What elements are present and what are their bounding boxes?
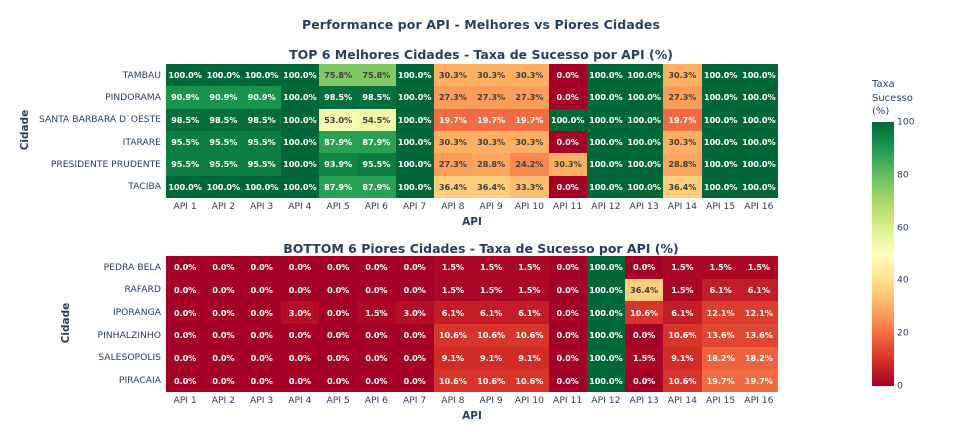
heatmap-cell[interactable]: 100.0% <box>702 131 740 153</box>
heatmap-cell[interactable]: 6.1% <box>434 301 472 324</box>
heatmap-cell[interactable]: 100.0% <box>587 279 625 302</box>
heatmap-y-label: TACIBA <box>0 176 166 198</box>
heatmap-cell[interactable]: 9.1% <box>663 347 701 370</box>
heatmap-cell[interactable]: 100.0% <box>166 176 204 198</box>
heatmap-cell[interactable]: 95.5% <box>204 153 242 175</box>
heatmap-cell[interactable]: 100.0% <box>281 176 319 198</box>
heatmap-cell[interactable]: 90.9% <box>243 86 281 108</box>
heatmap-x-label: API 5 <box>319 395 357 406</box>
heatmap-cell[interactable]: 100.0% <box>702 86 740 108</box>
heatmap-y-label: IPORANGA <box>0 301 166 324</box>
heatmap-cell[interactable]: 100.0% <box>625 109 663 131</box>
heatmap-cell[interactable]: 0.0% <box>281 324 319 347</box>
heatmap-cell[interactable]: 19.7% <box>510 109 548 131</box>
heatmap-x-label: API 3 <box>243 395 281 406</box>
heatmap-cell[interactable]: 1.5% <box>472 279 510 302</box>
heatmap-cell[interactable]: 0.0% <box>319 347 357 370</box>
top-axis-title-y: Cidade <box>19 100 31 160</box>
colorbar-title: Taxa Sucesso (%) <box>872 78 913 119</box>
heatmap-cell[interactable]: 0.0% <box>204 347 242 370</box>
heatmap-cell[interactable]: 19.7% <box>434 109 472 131</box>
heatmap-cell[interactable]: 10.6% <box>472 369 510 392</box>
heatmap-cell[interactable]: 100.0% <box>587 347 625 370</box>
heatmap-cell[interactable]: 0.0% <box>204 369 242 392</box>
heatmap-cell[interactable]: 6.1% <box>510 301 548 324</box>
heatmap-cell[interactable]: 0.0% <box>243 279 281 302</box>
heatmap-x-label: API 16 <box>740 395 778 406</box>
heatmap-x-label: API 4 <box>281 201 319 212</box>
heatmap-cell[interactable]: 100.0% <box>587 131 625 153</box>
heatmap-cell[interactable]: 0.0% <box>243 256 281 279</box>
colorbar-tick-label: 60 <box>897 222 909 233</box>
heatmap-cell[interactable]: 0.0% <box>357 256 395 279</box>
heatmap-cell[interactable]: 0.0% <box>243 369 281 392</box>
heatmap-cell[interactable]: 30.3% <box>663 131 701 153</box>
heatmap-cell[interactable]: 3.0% <box>281 301 319 324</box>
heatmap-cell[interactable]: 30.3% <box>434 64 472 86</box>
heatmap-cell[interactable]: 0.0% <box>549 176 587 198</box>
heatmap-cell[interactable]: 100.0% <box>281 109 319 131</box>
heatmap-y-label: RAFARD <box>0 279 166 302</box>
heatmap-cell[interactable]: 1.5% <box>625 347 663 370</box>
heatmap-cell[interactable]: 0.0% <box>166 279 204 302</box>
heatmap-cell[interactable]: 27.3% <box>510 86 548 108</box>
chart-figure: Performance por API - Melhores vs Piores… <box>0 0 962 434</box>
heatmap-cell[interactable]: 0.0% <box>396 279 434 302</box>
heatmap-cell[interactable]: 30.3% <box>472 131 510 153</box>
heatmap-cell[interactable]: 36.4% <box>472 176 510 198</box>
heatmap-cell[interactable]: 19.7% <box>740 369 778 392</box>
colorbar-tick-label: 40 <box>897 275 909 286</box>
heatmap-cell[interactable]: 100.0% <box>625 153 663 175</box>
heatmap-cell[interactable]: 0.0% <box>319 324 357 347</box>
heatmap-x-label: API 8 <box>434 395 472 406</box>
heatmap-cell[interactable]: 0.0% <box>396 369 434 392</box>
heatmap-cell[interactable]: 10.6% <box>510 324 548 347</box>
heatmap-cell[interactable]: 1.5% <box>663 279 701 302</box>
heatmap-cell[interactable]: 0.0% <box>549 347 587 370</box>
heatmap-cell[interactable]: 10.6% <box>472 324 510 347</box>
heatmap-cell[interactable]: 100.0% <box>281 131 319 153</box>
heatmap-cell[interactable]: 100.0% <box>587 369 625 392</box>
heatmap-cell[interactable]: 100.0% <box>396 64 434 86</box>
heatmap-cell[interactable]: 1.5% <box>740 256 778 279</box>
heatmap-cell[interactable]: 9.1% <box>434 347 472 370</box>
heatmap-cell[interactable]: 100.0% <box>740 109 778 131</box>
heatmap-cell[interactable]: 0.0% <box>204 324 242 347</box>
heatmap-x-label: API 13 <box>625 201 663 212</box>
heatmap-x-label: API 8 <box>434 201 472 212</box>
heatmap-cell[interactable]: 100.0% <box>702 64 740 86</box>
heatmap-cell[interactable]: 28.8% <box>663 153 701 175</box>
heatmap-cell[interactable]: 19.7% <box>663 109 701 131</box>
heatmap-cell[interactable]: 100.0% <box>396 109 434 131</box>
heatmap-cell[interactable]: 75.8% <box>357 64 395 86</box>
heatmap-cell[interactable]: 0.0% <box>166 301 204 324</box>
heatmap-cell[interactable]: 13.6% <box>740 324 778 347</box>
heatmap-x-label: API 3 <box>243 201 281 212</box>
heatmap-x-label: API 11 <box>549 395 587 406</box>
colorbar-ticks: 100806040200 <box>897 122 927 386</box>
heatmap-cell[interactable]: 1.5% <box>663 256 701 279</box>
heatmap-cell[interactable]: 30.3% <box>510 131 548 153</box>
heatmap-cell[interactable]: 0.0% <box>625 369 663 392</box>
heatmap-cell[interactable]: 54.5% <box>357 109 395 131</box>
heatmap-x-label: API 14 <box>663 201 701 212</box>
heatmap-cell[interactable]: 1.5% <box>472 256 510 279</box>
top-heatmap-grid: 100.0%100.0%100.0%100.0%75.8%75.8%100.0%… <box>166 64 778 198</box>
heatmap-x-label: API 15 <box>702 201 740 212</box>
heatmap-cell[interactable]: 100.0% <box>243 64 281 86</box>
heatmap-cell[interactable]: 18.2% <box>740 347 778 370</box>
heatmap-x-label: API 12 <box>587 201 625 212</box>
heatmap-cell[interactable]: 0.0% <box>319 256 357 279</box>
heatmap-cell[interactable]: 36.4% <box>663 176 701 198</box>
heatmap-cell[interactable]: 0.0% <box>204 256 242 279</box>
heatmap-x-label: API 15 <box>702 395 740 406</box>
heatmap-cell[interactable]: 10.6% <box>663 369 701 392</box>
heatmap-cell[interactable]: 10.6% <box>663 324 701 347</box>
heatmap-x-label: API 7 <box>396 395 434 406</box>
heatmap-cell[interactable]: 9.1% <box>510 347 548 370</box>
heatmap-cell[interactable]: 0.0% <box>319 301 357 324</box>
heatmap-cell[interactable]: 30.3% <box>510 64 548 86</box>
heatmap-cell[interactable]: 100.0% <box>625 131 663 153</box>
heatmap-cell[interactable]: 95.5% <box>204 131 242 153</box>
heatmap-cell[interactable]: 1.5% <box>510 279 548 302</box>
heatmap-cell[interactable]: 0.0% <box>319 369 357 392</box>
heatmap-cell[interactable]: 6.1% <box>472 301 510 324</box>
heatmap-cell[interactable]: 0.0% <box>396 347 434 370</box>
top-axis-title-x: API <box>166 216 778 228</box>
heatmap-cell[interactable]: 30.3% <box>472 64 510 86</box>
heatmap-x-label: API 7 <box>396 201 434 212</box>
heatmap-cell[interactable]: 0.0% <box>357 324 395 347</box>
heatmap-cell[interactable]: 100.0% <box>587 86 625 108</box>
heatmap-cell[interactable]: 36.4% <box>434 176 472 198</box>
heatmap-cell[interactable]: 75.8% <box>319 64 357 86</box>
heatmap-cell[interactable]: 100.0% <box>587 256 625 279</box>
heatmap-x-label: API 9 <box>472 395 510 406</box>
top-heatmap-panel: 100.0%100.0%100.0%100.0%75.8%75.8%100.0%… <box>166 64 778 198</box>
heatmap-cell[interactable]: 0.0% <box>166 324 204 347</box>
heatmap-cell[interactable]: 30.3% <box>434 131 472 153</box>
heatmap-cell[interactable]: 1.5% <box>357 301 395 324</box>
heatmap-cell[interactable]: 100.0% <box>587 109 625 131</box>
heatmap-cell[interactable]: 100.0% <box>740 176 778 198</box>
heatmap-cell[interactable]: 98.5% <box>243 109 281 131</box>
heatmap-cell[interactable]: 100.0% <box>587 153 625 175</box>
heatmap-y-label: PIRACAIA <box>0 369 166 392</box>
heatmap-cell[interactable]: 0.0% <box>549 64 587 86</box>
bottom-heatmap-x-labels: API 1API 2API 3API 4API 5API 6API 7API 8… <box>166 395 778 406</box>
heatmap-cell[interactable]: 0.0% <box>166 347 204 370</box>
heatmap-cell[interactable]: 0.0% <box>204 301 242 324</box>
heatmap-cell[interactable]: 100.0% <box>281 153 319 175</box>
heatmap-cell[interactable]: 36.4% <box>625 279 663 302</box>
heatmap-cell[interactable]: 1.5% <box>510 256 548 279</box>
heatmap-cell[interactable]: 1.5% <box>702 256 740 279</box>
heatmap-cell[interactable]: 24.2% <box>510 153 548 175</box>
heatmap-cell[interactable]: 100.0% <box>166 64 204 86</box>
heatmap-cell[interactable]: 87.9% <box>319 131 357 153</box>
heatmap-cell[interactable]: 100.0% <box>625 86 663 108</box>
heatmap-cell[interactable]: 9.1% <box>472 347 510 370</box>
heatmap-cell[interactable]: 27.3% <box>663 86 701 108</box>
heatmap-x-label: API 2 <box>204 395 242 406</box>
heatmap-cell[interactable]: 0.0% <box>281 256 319 279</box>
heatmap-y-label: PINHALZINHO <box>0 324 166 347</box>
heatmap-x-label: API 4 <box>281 395 319 406</box>
heatmap-cell[interactable]: 100.0% <box>740 153 778 175</box>
heatmap-x-label: API 13 <box>625 395 663 406</box>
heatmap-cell[interactable]: 0.0% <box>357 279 395 302</box>
heatmap-cell[interactable]: 0.0% <box>549 131 587 153</box>
heatmap-cell[interactable]: 87.9% <box>357 131 395 153</box>
bottom-axis-title-x: API <box>166 410 778 422</box>
heatmap-x-label: API 6 <box>357 395 395 406</box>
heatmap-cell[interactable]: 100.0% <box>281 86 319 108</box>
heatmap-cell[interactable]: 100.0% <box>587 324 625 347</box>
heatmap-x-label: API 16 <box>740 201 778 212</box>
heatmap-cell[interactable]: 10.6% <box>625 301 663 324</box>
bottom-heatmap-title: BOTTOM 6 Piores Cidades - Taxa de Sucess… <box>0 241 962 256</box>
heatmap-cell[interactable]: 0.0% <box>281 279 319 302</box>
heatmap-cell[interactable]: 0.0% <box>625 324 663 347</box>
heatmap-x-label: API 10 <box>510 201 548 212</box>
heatmap-cell[interactable]: 10.6% <box>510 369 548 392</box>
heatmap-cell[interactable]: 87.9% <box>357 176 395 198</box>
heatmap-cell[interactable]: 6.1% <box>740 279 778 302</box>
heatmap-cell[interactable]: 0.0% <box>549 301 587 324</box>
heatmap-cell[interactable]: 100.0% <box>587 176 625 198</box>
heatmap-cell[interactable]: 19.7% <box>472 109 510 131</box>
heatmap-cell[interactable]: 100.0% <box>204 64 242 86</box>
heatmap-cell[interactable]: 100.0% <box>243 176 281 198</box>
heatmap-cell[interactable]: 27.3% <box>434 153 472 175</box>
heatmap-y-label: PEDRA BELA <box>0 256 166 279</box>
heatmap-cell[interactable]: 100.0% <box>625 64 663 86</box>
colorbar-tick-label: 80 <box>897 169 909 180</box>
heatmap-cell[interactable]: 0.0% <box>549 279 587 302</box>
heatmap-cell[interactable]: 19.7% <box>702 369 740 392</box>
heatmap-x-label: API 10 <box>510 395 548 406</box>
heatmap-cell[interactable]: 0.0% <box>204 279 242 302</box>
heatmap-cell[interactable]: 0.0% <box>319 279 357 302</box>
heatmap-x-label: API 2 <box>204 201 242 212</box>
heatmap-cell[interactable]: 100.0% <box>281 64 319 86</box>
heatmap-cell[interactable]: 0.0% <box>357 369 395 392</box>
heatmap-cell[interactable]: 27.3% <box>434 86 472 108</box>
bottom-axis-title-y: Cidade <box>60 293 72 353</box>
heatmap-cell[interactable]: 98.5% <box>204 109 242 131</box>
heatmap-cell[interactable]: 100.0% <box>702 176 740 198</box>
bottom-heatmap-panel: 0.0%0.0%0.0%0.0%0.0%0.0%0.0%1.5%1.5%1.5%… <box>166 256 778 392</box>
heatmap-cell[interactable]: 53.0% <box>319 109 357 131</box>
heatmap-cell[interactable]: 100.0% <box>396 176 434 198</box>
heatmap-cell[interactable]: 6.1% <box>702 279 740 302</box>
heatmap-y-label: TAMBAU <box>0 64 166 86</box>
heatmap-cell[interactable]: 87.9% <box>319 176 357 198</box>
heatmap-cell[interactable]: 1.5% <box>434 256 472 279</box>
heatmap-cell[interactable]: 12.1% <box>702 301 740 324</box>
heatmap-cell[interactable]: 28.8% <box>472 153 510 175</box>
heatmap-cell[interactable]: 0.0% <box>357 347 395 370</box>
heatmap-cell[interactable]: 93.9% <box>319 153 357 175</box>
heatmap-cell[interactable]: 0.0% <box>549 86 587 108</box>
colorbar-tick-label: 100 <box>897 117 915 128</box>
heatmap-cell[interactable]: 98.5% <box>166 109 204 131</box>
heatmap-cell[interactable]: 100.0% <box>625 176 663 198</box>
heatmap-cell[interactable]: 98.5% <box>357 86 395 108</box>
heatmap-cell[interactable]: 100.0% <box>740 131 778 153</box>
heatmap-cell[interactable]: 100.0% <box>587 301 625 324</box>
heatmap-cell[interactable]: 100.0% <box>587 64 625 86</box>
heatmap-cell[interactable]: 27.3% <box>472 86 510 108</box>
heatmap-cell[interactable]: 30.3% <box>549 153 587 175</box>
heatmap-x-label: API 1 <box>166 201 204 212</box>
top-heatmap-x-labels: API 1API 2API 3API 4API 5API 6API 7API 8… <box>166 201 778 212</box>
heatmap-cell[interactable]: 10.6% <box>434 324 472 347</box>
heatmap-cell[interactable]: 0.0% <box>281 369 319 392</box>
heatmap-cell[interactable]: 12.1% <box>740 301 778 324</box>
heatmap-cell[interactable]: 0.0% <box>625 256 663 279</box>
heatmap-cell[interactable]: 1.5% <box>434 279 472 302</box>
heatmap-cell[interactable]: 100.0% <box>740 86 778 108</box>
bottom-heatmap-grid: 0.0%0.0%0.0%0.0%0.0%0.0%0.0%1.5%1.5%1.5%… <box>166 256 778 392</box>
heatmap-cell[interactable]: 98.5% <box>319 86 357 108</box>
heatmap-cell[interactable]: 100.0% <box>702 109 740 131</box>
colorbar-gradient <box>872 122 894 386</box>
heatmap-cell[interactable]: 0.0% <box>166 369 204 392</box>
heatmap-cell[interactable]: 100.0% <box>740 64 778 86</box>
heatmap-cell[interactable]: 100.0% <box>396 131 434 153</box>
heatmap-cell[interactable]: 90.9% <box>204 86 242 108</box>
heatmap-x-label: API 14 <box>663 395 701 406</box>
heatmap-cell[interactable]: 0.0% <box>243 301 281 324</box>
colorbar-tick-label: 0 <box>897 381 903 392</box>
heatmap-cell[interactable]: 0.0% <box>396 324 434 347</box>
heatmap-cell[interactable]: 6.1% <box>663 301 701 324</box>
heatmap-x-label: API 9 <box>472 201 510 212</box>
heatmap-cell[interactable]: 95.5% <box>243 153 281 175</box>
heatmap-cell[interactable]: 100.0% <box>396 86 434 108</box>
heatmap-x-label: API 1 <box>166 395 204 406</box>
figure-main-title: Performance por API - Melhores vs Piores… <box>0 17 962 32</box>
heatmap-cell[interactable]: 95.5% <box>243 131 281 153</box>
heatmap-cell[interactable]: 100.0% <box>549 109 587 131</box>
heatmap-cell[interactable]: 0.0% <box>549 324 587 347</box>
heatmap-x-label: API 11 <box>549 201 587 212</box>
heatmap-cell[interactable]: 0.0% <box>396 256 434 279</box>
heatmap-cell[interactable]: 90.9% <box>166 86 204 108</box>
heatmap-cell[interactable]: 0.0% <box>281 347 319 370</box>
heatmap-x-label: API 5 <box>319 201 357 212</box>
heatmap-cell[interactable]: 13.6% <box>702 324 740 347</box>
heatmap-cell[interactable]: 10.6% <box>434 369 472 392</box>
heatmap-cell[interactable]: 100.0% <box>702 153 740 175</box>
bottom-heatmap-y-labels: PEDRA BELARAFARDIPORANGAPINHALZINHOSALES… <box>0 256 166 392</box>
top-heatmap-title: TOP 6 Melhores Cidades - Taxa de Sucesso… <box>0 47 962 62</box>
heatmap-cell[interactable]: 33.3% <box>510 176 548 198</box>
heatmap-cell[interactable]: 0.0% <box>166 256 204 279</box>
heatmap-cell[interactable]: 95.5% <box>166 131 204 153</box>
heatmap-cell[interactable]: 95.5% <box>357 153 395 175</box>
heatmap-cell[interactable]: 18.2% <box>702 347 740 370</box>
heatmap-x-label: API 12 <box>587 395 625 406</box>
heatmap-cell[interactable]: 95.5% <box>166 153 204 175</box>
heatmap-cell[interactable]: 30.3% <box>663 64 701 86</box>
heatmap-cell[interactable]: 100.0% <box>396 153 434 175</box>
heatmap-cell[interactable]: 0.0% <box>549 369 587 392</box>
heatmap-y-label: SALESOPOLIS <box>0 347 166 370</box>
heatmap-cell[interactable]: 100.0% <box>204 176 242 198</box>
heatmap-cell[interactable]: 0.0% <box>243 347 281 370</box>
heatmap-cell[interactable]: 0.0% <box>243 324 281 347</box>
heatmap-x-label: API 6 <box>357 201 395 212</box>
heatmap-cell[interactable]: 0.0% <box>549 256 587 279</box>
heatmap-cell[interactable]: 3.0% <box>396 301 434 324</box>
colorbar-tick-label: 20 <box>897 328 909 339</box>
